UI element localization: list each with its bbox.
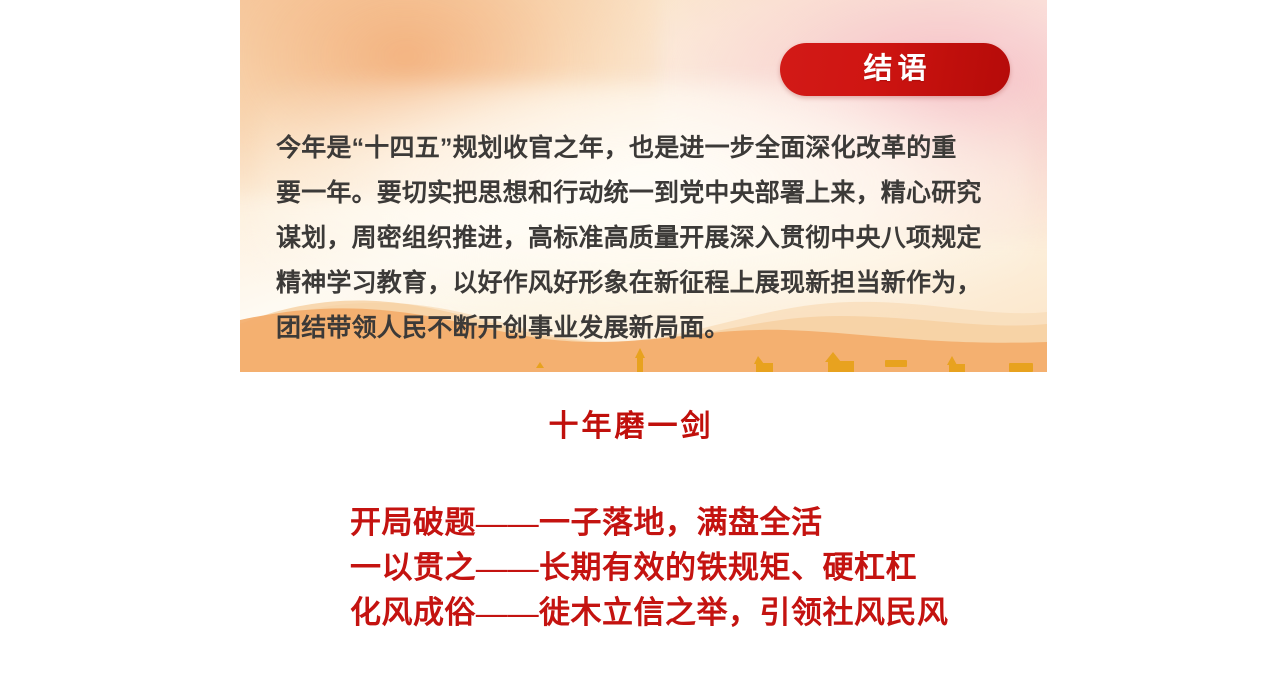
poster-body-line: 谋划，周密组织推进，高标准高质量开展深入贯彻中央八项规定 xyxy=(276,216,1016,261)
slogan-list: 开局破题——一子落地，满盘全活 一以贯之——长期有效的铁规矩、硬杠杠 化风成俗—… xyxy=(350,500,1030,635)
poster-card: 结语 今年是“十四五”规划收官之年，也是进一步全面深化改革的重 要一年。要切实把… xyxy=(240,0,1047,372)
poster-body-line: 今年是“十四五”规划收官之年，也是进一步全面深化改革的重 xyxy=(276,126,1016,171)
poster-body-paragraph: 今年是“十四五”规划收官之年，也是进一步全面深化改革的重 要一年。要切实把思想和… xyxy=(276,126,1016,351)
slogan-line: 一以贯之——长期有效的铁规矩、硬杠杠 xyxy=(350,545,1030,590)
headline-text: 十年磨一剑 xyxy=(549,410,714,443)
headline-container: 十年磨一剑 xyxy=(0,410,1266,443)
slogan-line: 化风成俗——徙木立信之举，引领社风民风 xyxy=(350,590,1030,635)
poster-body-line: 要一年。要切实把思想和行动统一到党中央部署上来，精心研究 xyxy=(276,171,1016,216)
conclusion-title-label: 结语 xyxy=(858,55,931,84)
poster-body-line: 精神学习教育，以好作风好形象在新征程上展现新担当新作为， xyxy=(276,261,1016,306)
poster-body-line: 团结带领人民不断开创事业发展新局面。 xyxy=(276,306,1016,351)
conclusion-title-badge: 结语 xyxy=(780,43,1010,96)
slogan-line: 开局破题——一子落地，满盘全活 xyxy=(350,500,1030,545)
